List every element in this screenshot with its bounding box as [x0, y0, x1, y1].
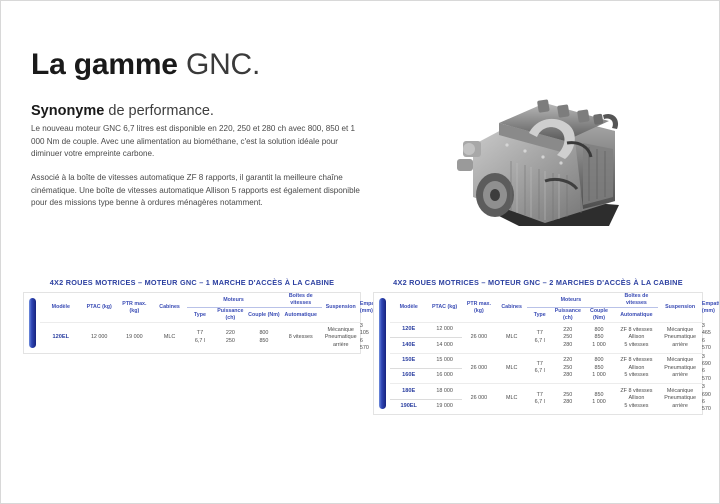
cell-type: T7 6,7 l — [527, 384, 552, 414]
cell-automatique: ZF 8 vitesses Allison 5 vitesses — [615, 323, 659, 354]
col-empattement-unit: (mm) — [702, 308, 715, 314]
col-puissance-label: Puissance — [217, 308, 243, 314]
col-modele: Modèle — [390, 293, 427, 323]
col-cabines: Cabines — [152, 293, 187, 323]
col-ptac-label: PTAC — [87, 304, 101, 310]
col-boites-line2: vitesses — [290, 300, 311, 306]
body-paragraph-1: Le nouveau moteur GNC 6,7 litres est dis… — [31, 123, 363, 161]
table-group-header-row: Modèle PTAC (kg) PTR max. (kg) Cabines M… — [390, 293, 702, 308]
cell-type: T7 6,7 l — [187, 323, 213, 353]
cell-couple: 800 850 — [248, 323, 280, 353]
cell-modele: 160E — [390, 368, 427, 383]
page-subtitle-light: de performance. — [108, 103, 214, 119]
col-ptr-max: max. — [479, 301, 491, 307]
col-group-boites: Boîtes de vitesses — [280, 293, 322, 308]
page-subtitle-strong: Synonyme — [31, 103, 104, 119]
table-title: 4X2 ROUES MOTRICES – MOTEUR GNC – 2 MARC… — [373, 278, 703, 287]
col-empattement-label: Empattement — [702, 301, 720, 307]
col-ptr-label: PTR — [122, 301, 133, 307]
document-page: La gamme GNC. Synonyme de performance. L… — [0, 0, 720, 504]
cell-puissance: 250 280 — [552, 384, 583, 414]
cell-modele: 120EL — [40, 323, 82, 353]
engine-photo — [433, 85, 701, 265]
col-automatique: Automatique — [280, 308, 322, 323]
page-title: La gamme GNC. — [31, 47, 260, 83]
col-suspension: Suspension — [658, 293, 702, 323]
col-group-moteurs: Moteurs — [527, 293, 614, 308]
table-group-header-row: Modèle PTAC (kg) PTR max. (kg) Cabines M… — [40, 293, 360, 308]
cell-modele: 120E — [390, 323, 427, 338]
cell-modele: 180E — [390, 384, 427, 400]
cell-ptac: 18 000 — [427, 384, 461, 400]
cell-couple: 800 850 1 000 — [583, 353, 614, 384]
cell-ptac: 19 000 — [427, 399, 461, 414]
col-couple: Couple (Nm) — [583, 308, 614, 323]
cell-automatique: ZF 8 vitesses Allison 5 vitesses — [615, 384, 659, 414]
cell-puissance: 220 250 — [213, 323, 248, 353]
cell-cabines: MLC — [496, 384, 527, 414]
table-row: 120E 12 000 26 000 MLC T7 6,7 l 220 250 … — [390, 323, 702, 338]
spec-table: Modèle PTAC (kg) PTR max. (kg) Cabines M… — [390, 293, 702, 414]
cell-ptr: 19 000 — [117, 323, 152, 353]
body-paragraph-2: Associé à la boîte de vitesses automatiq… — [31, 172, 363, 210]
cell-cabines: MLC — [496, 353, 527, 384]
col-empattement-unit: (mm) — [360, 308, 373, 314]
cell-ptac: 14 000 — [427, 338, 461, 353]
table-row: 180E 18 000 26 000 MLC T7 6,7 l 250 280 — [390, 384, 702, 400]
col-boites-line1: Boîtes de — [624, 293, 648, 299]
accent-bar — [29, 298, 36, 348]
page-subtitle: Synonyme de performance. — [31, 102, 214, 120]
cell-modele: 140E — [390, 338, 427, 353]
col-couple-label: Couple — [248, 312, 266, 318]
col-puissance-label: Puissance — [555, 308, 581, 314]
col-ptr: PTR max. (kg) — [117, 293, 152, 323]
cell-couple: 850 1 000 — [583, 384, 614, 414]
col-modele: Modèle — [40, 293, 82, 323]
spec-table-2-marches: 4X2 ROUES MOTRICES – MOTEUR GNC – 2 MARC… — [373, 278, 703, 415]
col-ptac-unit: (kg) — [447, 304, 457, 310]
spec-table: Modèle PTAC (kg) PTR max. (kg) Cabines M… — [40, 293, 360, 353]
col-puissance: Puissance (ch) — [552, 308, 583, 323]
table-panel: Modèle PTAC (kg) PTR max. (kg) Cabines M… — [23, 292, 361, 354]
col-group-moteurs: Moteurs — [187, 293, 280, 308]
col-ptac-label: PTAC — [432, 304, 446, 310]
col-ptr-unit: (kg) — [130, 308, 140, 314]
cell-cabines: MLC — [496, 323, 527, 354]
cell-puissance: 220 250 280 — [552, 353, 583, 384]
col-type: Type — [527, 308, 552, 323]
table-row: 120EL 12 000 19 000 MLC T7 6,7 l 220 250 — [40, 323, 360, 353]
cell-modele: 150E — [390, 353, 427, 368]
table-panel: Modèle PTAC (kg) PTR max. (kg) Cabines M… — [373, 292, 703, 415]
engine-illustration — [433, 85, 701, 265]
col-ptac: PTAC (kg) — [82, 293, 117, 323]
col-group-boites: Boîtes de vitesses — [615, 293, 659, 308]
col-type: Type — [187, 308, 213, 323]
table-title: 4X2 ROUES MOTRICES – MOTEUR GNC – 1 MARC… — [23, 278, 361, 287]
col-automatique: Automatique — [615, 308, 659, 323]
cell-ptr: 26 000 — [462, 353, 496, 384]
cell-ptr: 26 000 — [462, 323, 496, 354]
spec-table-1-marche: 4X2 ROUES MOTRICES – MOTEUR GNC – 1 MARC… — [23, 278, 361, 354]
col-cabines: Cabines — [496, 293, 527, 323]
col-couple-label: Couple — [590, 308, 608, 314]
cell-cabines: MLC — [152, 323, 187, 353]
col-ptr-unit: (kg) — [474, 308, 484, 314]
cell-ptac: 12 000 — [427, 323, 461, 338]
col-ptr-label: PTR — [467, 301, 478, 307]
col-boites-line1: Boîtes de — [289, 293, 313, 299]
col-boites-line2: vitesses — [626, 300, 647, 306]
cell-modele: 190EL — [390, 399, 427, 414]
cell-automatique: ZF 8 vitesses Allison 5 vitesses — [615, 353, 659, 384]
col-puissance-unit: (ch) — [225, 315, 235, 321]
cell-ptac: 15 000 — [427, 353, 461, 368]
cell-puissance: 220 250 280 — [552, 323, 583, 354]
col-couple-unit: (Nm) — [593, 315, 605, 321]
cell-suspension: Mécanique Pneumatique arrière — [322, 323, 360, 353]
col-ptac: PTAC (kg) — [427, 293, 461, 323]
col-ptr-max: max. — [134, 301, 146, 307]
col-suspension: Suspension — [322, 293, 360, 323]
cell-couple: 800 850 1 000 — [583, 323, 614, 354]
col-ptr: PTR max. (kg) — [462, 293, 496, 323]
col-puissance-unit: (ch) — [563, 315, 573, 321]
table-row: 150E 15 000 26 000 MLC T7 6,7 l 220 250 … — [390, 353, 702, 368]
cell-type: T7 6,7 l — [527, 323, 552, 354]
cell-automatique: 8 vitesses — [280, 323, 322, 353]
col-puissance: Puissance (ch) — [213, 308, 248, 323]
cell-suspension: Mécanique Pneumatique arrière — [658, 323, 702, 354]
cell-suspension: Mécanique Pneumatique arrière — [658, 353, 702, 384]
cell-ptac: 12 000 — [82, 323, 117, 353]
col-couple-unit: (Nm) — [268, 312, 280, 318]
cell-ptr: 26 000 — [462, 384, 496, 414]
col-couple: Couple (Nm) — [248, 308, 280, 323]
page-title-light: GNC. — [186, 48, 260, 81]
page-title-strong: La gamme — [31, 48, 178, 81]
cell-suspension: Mécanique Pneumatique arrière — [658, 384, 702, 414]
accent-bar — [379, 298, 386, 409]
cell-type: T7 6,7 l — [527, 353, 552, 384]
col-ptac-unit: (kg) — [102, 304, 112, 310]
cell-ptac: 16 000 — [427, 368, 461, 383]
